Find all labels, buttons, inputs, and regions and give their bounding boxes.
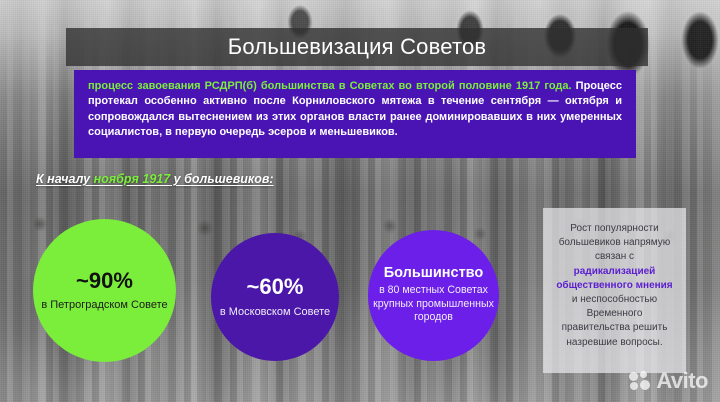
subtitle: К началу ноября 1917 у большевиков: (36, 172, 274, 186)
stat-value-moscow: ~60% (247, 275, 304, 298)
stat-label-petrograd: в Петроградском Совете (41, 298, 167, 312)
stat-value-cities: Большинство (384, 266, 484, 281)
stat-label-moscow: в Московском Совете (220, 305, 330, 319)
definition-highlight: процесс завоевания РСДРП(б) большинства … (88, 80, 572, 92)
page-title: Большевизация Советов (228, 34, 487, 60)
infographic-slide: Большевизация Советов процесс завоевания… (0, 0, 720, 402)
avito-brand-label: Avito (656, 370, 708, 392)
avito-logo-icon (629, 371, 651, 391)
stat-label-cities: в 80 местных Советах крупных промышленны… (368, 284, 499, 325)
avito-watermark: Avito (629, 370, 708, 392)
stat-circle-petrograd: ~90% в Петроградском Совете (33, 219, 176, 362)
note-text: Рост популярности большевиков напрямую с… (553, 222, 676, 350)
definition-box: процесс завоевания РСДРП(б) большинства … (74, 70, 636, 158)
note-highlight: радикализацией общественного мнения (556, 266, 672, 291)
note-panel: Рост популярности большевиков напрямую с… (543, 208, 686, 373)
definition-text: процесс завоевания РСДРП(б) большинства … (88, 79, 622, 141)
title-bar: Большевизация Советов (66, 28, 648, 66)
subtitle-prefix: К началу (36, 172, 94, 186)
stat-value-petrograd: ~90% (76, 269, 133, 292)
stat-circle-cities: Большинство в 80 местных Советах крупных… (368, 230, 499, 361)
subtitle-suffix: у большевиков: (170, 172, 273, 186)
subtitle-highlight: ноября 1917 (94, 172, 171, 186)
note-part2: и неспособностью Временного правительств… (562, 294, 668, 348)
note-part1: Рост популярности большевиков напрямую с… (559, 223, 671, 262)
stat-circle-moscow: ~60% в Московском Совете (211, 233, 339, 361)
